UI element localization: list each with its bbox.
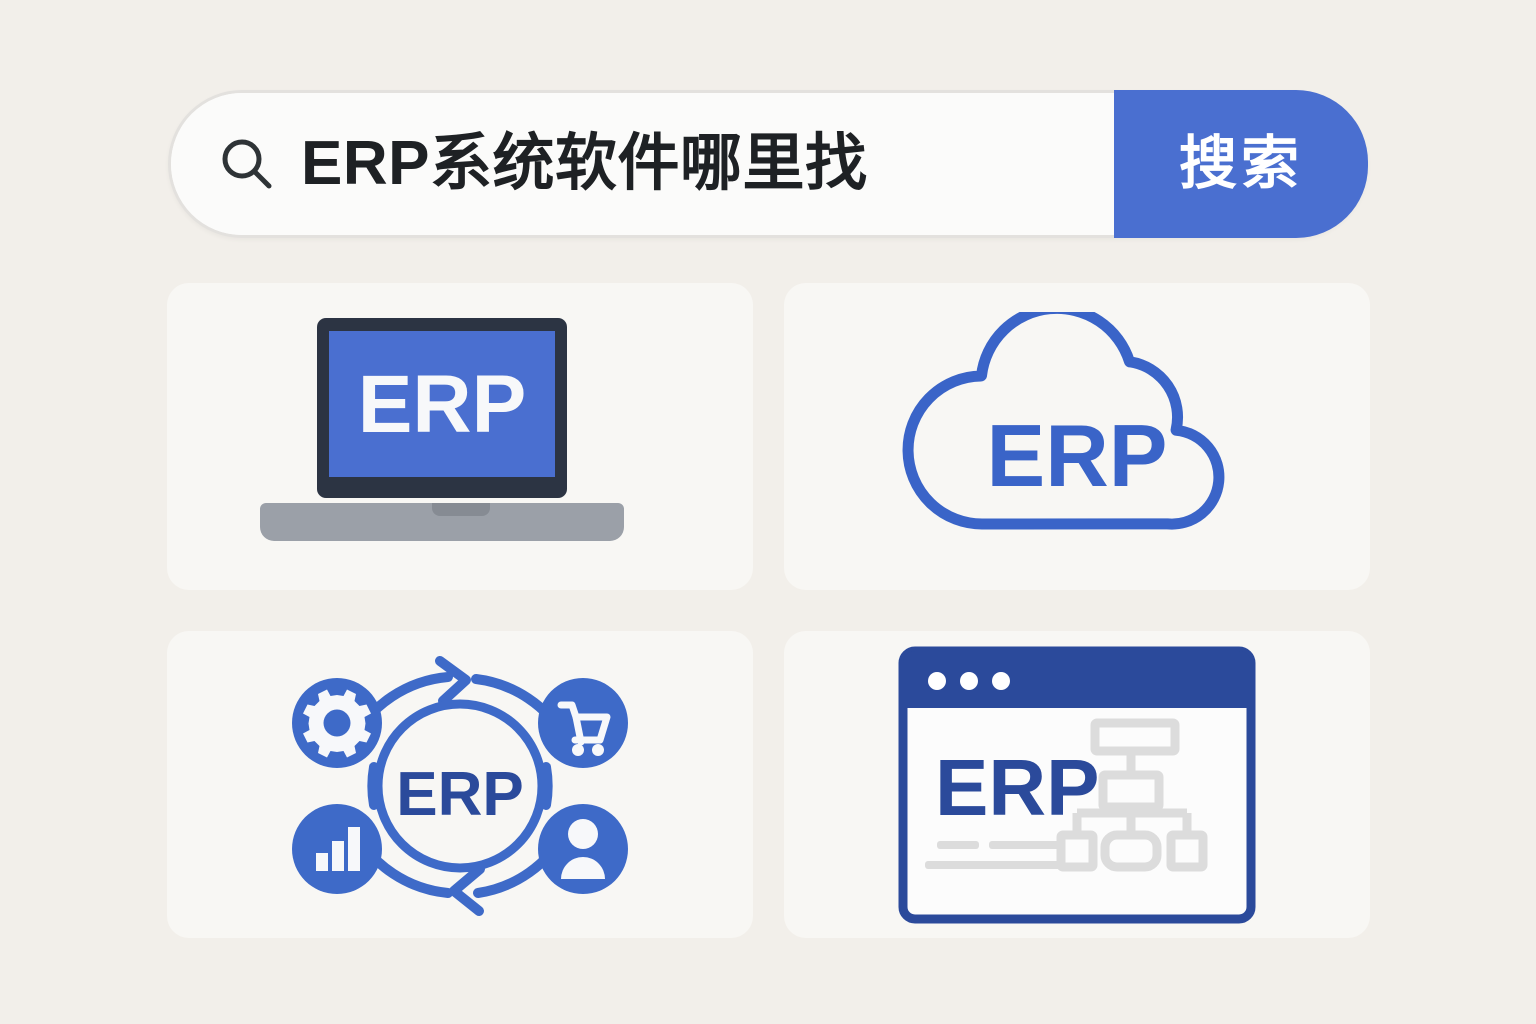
browser-title-bar	[903, 651, 1251, 708]
user-icon	[538, 804, 628, 894]
search-button-label: 搜索	[1179, 135, 1303, 193]
search-bar[interactable]: ERP系统软件哪里找 搜索	[168, 90, 1368, 238]
erp-cycle-diagram: ERP	[280, 635, 640, 935]
cloud-erp-card[interactable]: ERP	[784, 283, 1370, 590]
text-line	[989, 841, 1061, 849]
search-query-text: ERP系统软件哪里找	[301, 133, 867, 195]
laptop-erp-card[interactable]: ERP	[167, 283, 753, 590]
laptop-icon: ERP	[260, 314, 660, 559]
browser-window-icon: ERP	[897, 645, 1257, 925]
cloud-label: ERP	[987, 406, 1168, 505]
search-icon	[219, 136, 275, 192]
browser-erp-card[interactable]: ERP	[784, 631, 1370, 938]
search-button[interactable]: 搜索	[1114, 90, 1368, 238]
text-line	[925, 861, 1061, 869]
cloud-icon: ERP	[887, 312, 1267, 562]
text-line	[937, 841, 979, 849]
window-dot	[928, 672, 946, 690]
bar-chart-icon	[292, 804, 382, 894]
cart-icon	[538, 678, 628, 768]
cycle-erp-card[interactable]: ERP	[167, 631, 753, 938]
illustration-card-grid: ERP ERP ERP	[167, 283, 1370, 938]
cycle-center-label: ERP	[396, 760, 523, 829]
window-dot	[960, 672, 978, 690]
gear-icon	[292, 678, 382, 768]
search-input[interactable]: ERP系统软件哪里找	[171, 93, 1114, 235]
window-dot	[992, 672, 1010, 690]
laptop-screen-label: ERP	[358, 359, 527, 450]
